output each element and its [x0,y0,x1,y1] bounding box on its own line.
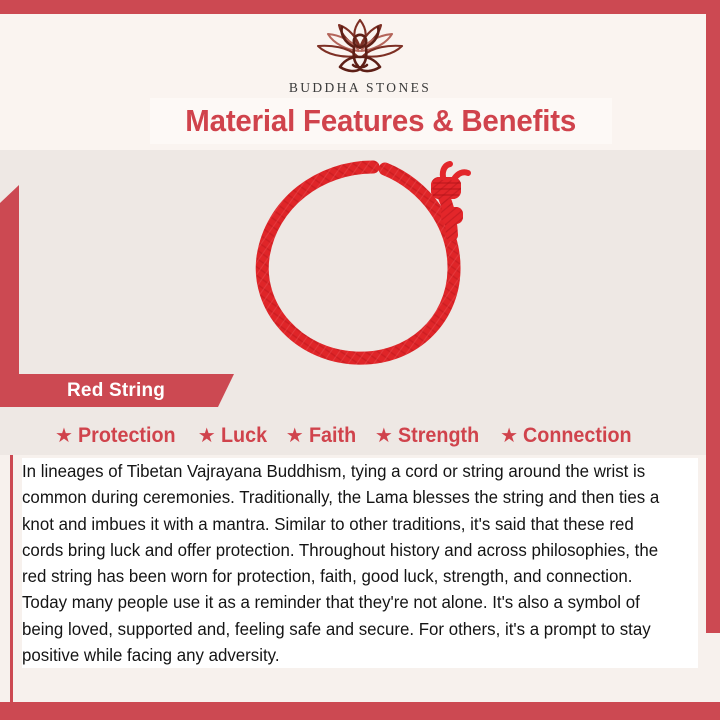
benefit-item-connection: ★ Connection [500,424,638,448]
bottom-border-bar [0,702,720,720]
left-accent-bar [0,185,19,407]
benefit-item-strength: ★ Strength [375,424,484,448]
benefit-label: Faith [309,424,356,448]
infographic-page: BUDDHA STONES Material Features & Benefi… [0,0,720,720]
product-name-label: Red String [67,380,165,402]
star-icon: ★ [198,426,216,446]
star-icon: ★ [375,426,393,446]
description-text: In lineages of Tibetan Vajrayana Buddhis… [22,458,678,668]
benefit-item-faith: ★ Faith [286,424,359,448]
title-banner: Material Features & Benefits [150,98,612,144]
description-block: In lineages of Tibetan Vajrayana Buddhis… [22,458,698,668]
top-border-bar [0,0,720,14]
lotus-meditation-figure-icon [300,16,420,78]
red-string-bracelet-image [225,155,505,370]
body-left-rule [10,455,13,702]
page-title: Material Features & Benefits [186,103,577,139]
benefit-item-protection: ★ Protection [55,424,182,448]
star-icon: ★ [286,426,304,446]
brand-name: BUDDHA STONES [0,80,720,96]
brand-logo: BUDDHA STONES [0,16,720,96]
benefit-label: Strength [398,424,479,448]
benefits-row: ★ Protection ★ Luck ★ Faith ★ Strength ★… [55,420,680,452]
product-name-ribbon: Red String [19,374,234,407]
benefit-label: Luck [221,424,267,448]
star-icon: ★ [55,426,73,446]
benefit-item-luck: ★ Luck [198,424,270,448]
benefit-label: Connection [523,424,632,448]
benefit-label: Protection [78,424,176,448]
star-icon: ★ [500,426,518,446]
